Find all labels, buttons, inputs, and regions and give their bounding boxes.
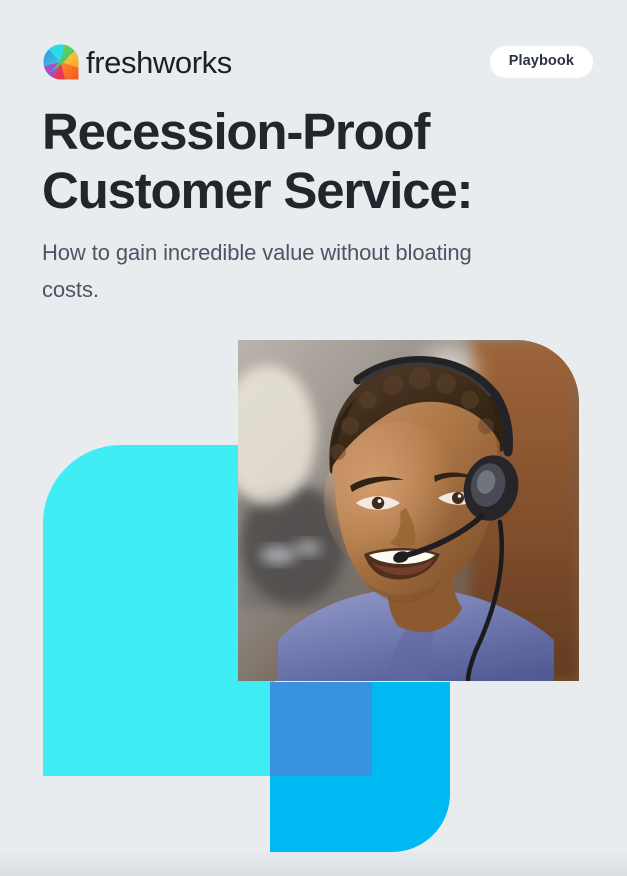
footer-gradient-bar <box>0 852 627 876</box>
page-subtitle: How to gain incredible value without blo… <box>42 234 502 308</box>
brand-wordmark: freshworks <box>86 47 232 78</box>
blue-overlap-square <box>270 682 372 776</box>
cyan-rounded-block <box>43 445 275 776</box>
blue-rounded-block <box>270 682 450 852</box>
freshworks-leaf-logo-icon <box>42 43 80 81</box>
cover-header: freshworks Playbook <box>42 40 593 84</box>
freshworks-brand-lockup: freshworks <box>42 43 232 81</box>
page-title: Recession-Proof Customer Service: <box>42 102 562 220</box>
status-badge: Playbook <box>490 46 593 78</box>
playbook-cover-page: freshworks Playbook Recession-Proof Cust… <box>0 0 627 876</box>
support-agent-photo <box>238 340 579 681</box>
